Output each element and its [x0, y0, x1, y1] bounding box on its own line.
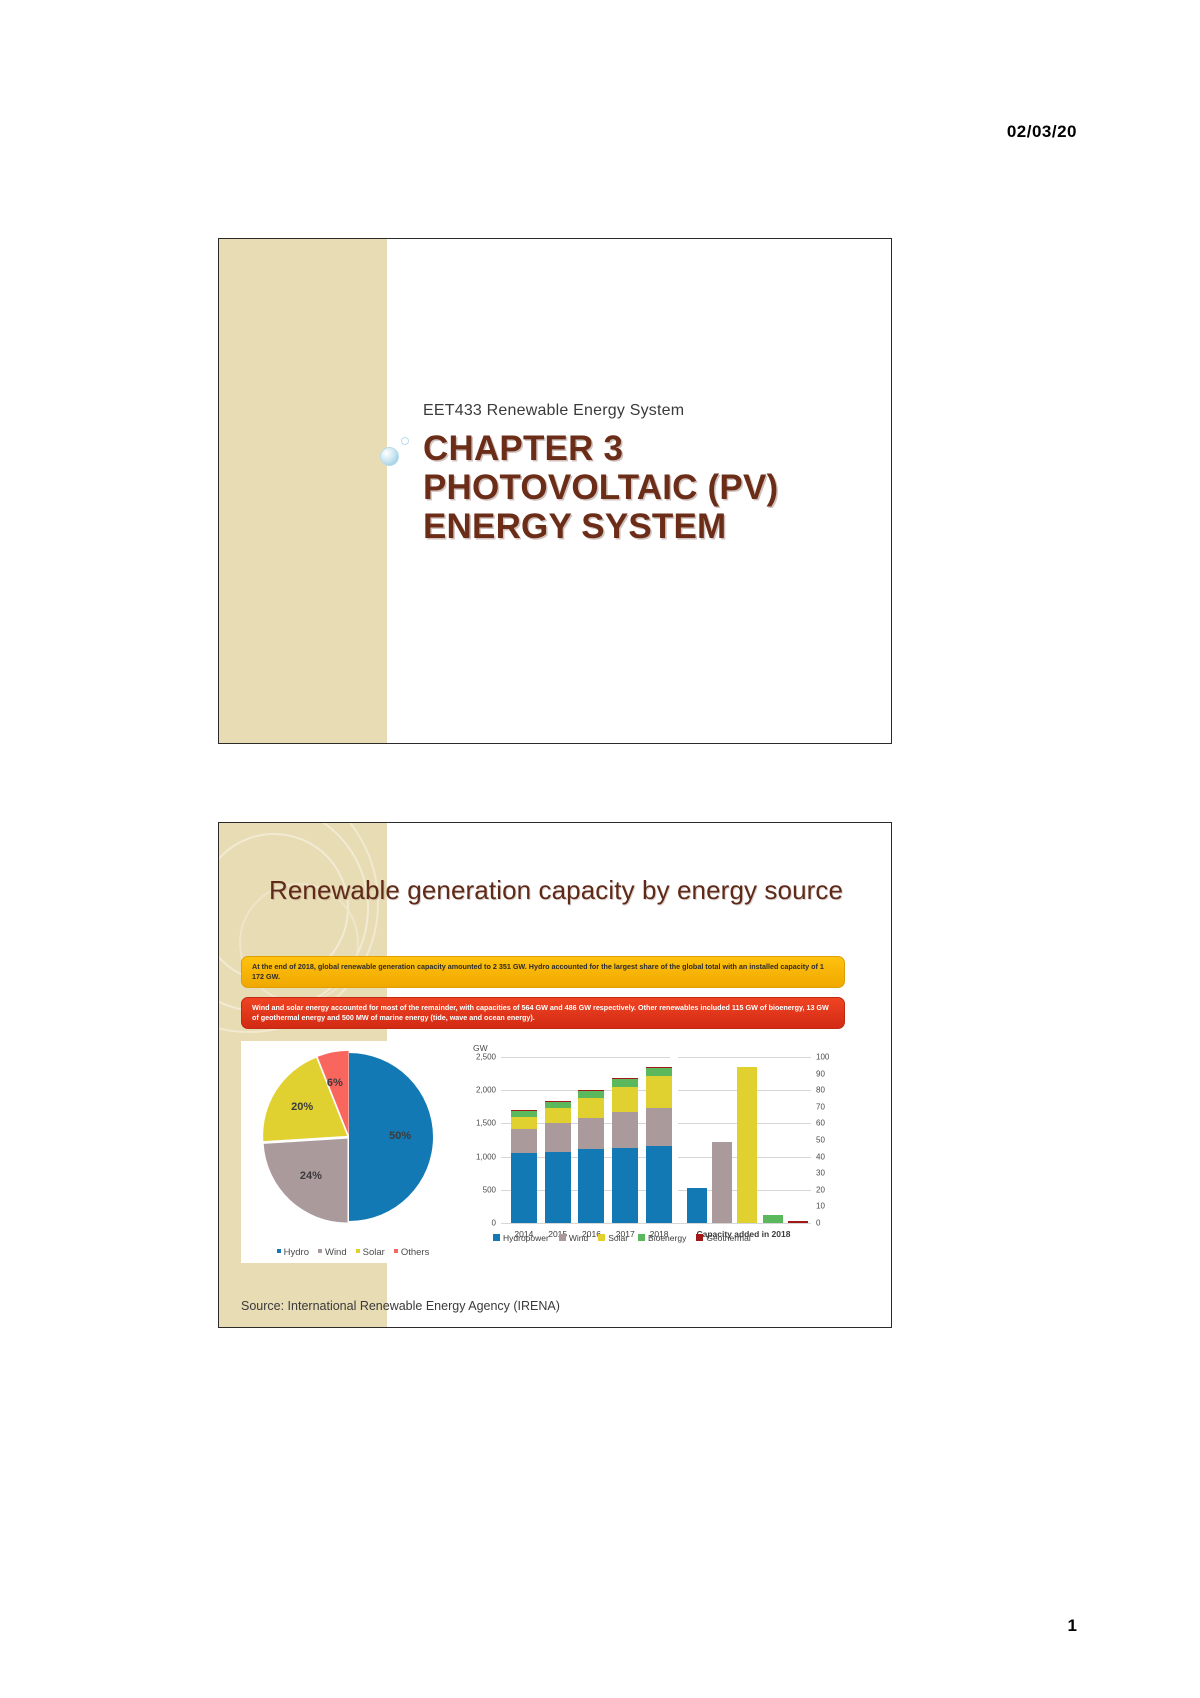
right-axis-tick-label: 60	[816, 1119, 825, 1128]
bar-segment	[511, 1117, 537, 1129]
bar-chart-y-axis-title: GW	[473, 1043, 488, 1053]
bar-segment	[646, 1076, 672, 1109]
bar-segment	[612, 1148, 638, 1223]
course-subtitle: EET433 Renewable Energy System	[423, 402, 684, 420]
bar-segment	[712, 1142, 732, 1223]
pie-chart-svg	[259, 1047, 439, 1227]
legend-swatch-icon	[277, 1249, 281, 1253]
title-line-1: CHAPTER 3	[423, 429, 873, 468]
bar-segment	[511, 1153, 537, 1223]
pie-legend-label: Hydro	[284, 1247, 309, 1258]
bar-chart: GW 05001,0001,5002,0002,5000102030405060…	[453, 1041, 845, 1263]
bar-segment	[763, 1215, 783, 1223]
bar-column-added	[737, 1067, 757, 1223]
bar-chart-legend: HydropowerWindSolarBioenergyGeothermal	[493, 1233, 845, 1243]
bar-chart-plot-area: 05001,0001,5002,0002,5000102030405060708…	[501, 1057, 811, 1223]
right-axis-tick-label: 10	[816, 1202, 825, 1211]
right-axis-tick-label: 90	[816, 1069, 825, 1078]
pie-legend-label: Wind	[325, 1247, 347, 1258]
charts-container: 50%24%20%6% HydroWindSolarOthers GW 0500…	[241, 1041, 845, 1263]
bar-legend-item: Geothermal	[696, 1233, 750, 1243]
bar-segment	[687, 1188, 707, 1223]
right-axis-tick-label: 0	[816, 1219, 820, 1228]
pie-legend-item: Others	[394, 1247, 430, 1258]
right-axis-tick-label: 40	[816, 1152, 825, 1161]
slide-heading: Renewable generation capacity by energy …	[269, 875, 843, 906]
bar-column-added	[687, 1188, 707, 1223]
legend-swatch-icon	[559, 1234, 566, 1241]
gridline	[501, 1057, 811, 1058]
y-axis-tick-label: 2,000	[476, 1086, 496, 1095]
bar-legend-item: Wind	[559, 1233, 588, 1243]
bar-stack-column	[511, 1110, 537, 1223]
legend-swatch-icon	[356, 1249, 360, 1253]
legend-swatch-icon	[598, 1234, 605, 1241]
bar-segment	[646, 1068, 672, 1076]
bar-segment	[578, 1098, 604, 1118]
bubble-small-icon	[401, 437, 409, 445]
bar-legend-label: Hydropower	[503, 1233, 549, 1243]
pie-slice-label: 20%	[291, 1101, 313, 1113]
bar-segment	[612, 1079, 638, 1086]
bar-segment	[578, 1149, 604, 1223]
legend-swatch-icon	[318, 1249, 322, 1253]
pie-legend-label: Others	[401, 1247, 430, 1258]
bar-legend-item: Solar	[598, 1233, 628, 1243]
page-number: 1	[1068, 1616, 1077, 1636]
bar-segment	[612, 1112, 638, 1147]
bar-legend-label: Geothermal	[706, 1233, 750, 1243]
source-attribution: Source: International Renewable Energy A…	[241, 1299, 560, 1313]
y-axis-tick-label: 2,500	[476, 1053, 496, 1062]
bar-legend-label: Solar	[608, 1233, 628, 1243]
bar-column-added	[763, 1215, 783, 1223]
right-axis-tick-label: 100	[816, 1053, 829, 1062]
pie-legend-item: Hydro	[277, 1247, 309, 1258]
bar-stack-column	[578, 1090, 604, 1223]
pie-chart: 50%24%20%6% HydroWindSolarOthers	[245, 1045, 455, 1260]
bar-segment	[612, 1087, 638, 1113]
y-axis-tick-label: 1,000	[476, 1152, 496, 1161]
title-line-2: PHOTOVOLTAIC (PV)	[423, 468, 873, 507]
bar-segment	[578, 1118, 604, 1149]
right-axis-tick-label: 80	[816, 1086, 825, 1095]
pie-slice-label: 50%	[389, 1130, 411, 1142]
bar-segment	[545, 1102, 571, 1109]
bar-stack-column	[545, 1101, 571, 1223]
bubble-icon	[380, 447, 399, 466]
y-axis-tick-label: 500	[483, 1185, 496, 1194]
pie-legend-item: Wind	[318, 1247, 347, 1258]
title-line-3: ENERGY SYSTEM	[423, 507, 873, 546]
bar-legend-item: Hydropower	[493, 1233, 549, 1243]
bar-segment	[788, 1221, 808, 1223]
slide-accent-band	[219, 239, 387, 743]
pie-legend-item: Solar	[356, 1247, 385, 1258]
bar-legend-item: Bioenergy	[638, 1233, 686, 1243]
page-date: 02/03/20	[1007, 122, 1077, 142]
legend-swatch-icon	[696, 1234, 703, 1241]
right-axis-tick-label: 70	[816, 1102, 825, 1111]
legend-swatch-icon	[493, 1234, 500, 1241]
slide-title: EET433 Renewable Energy System CHAPTER 3…	[218, 238, 892, 744]
y-axis-tick-label: 1,500	[476, 1119, 496, 1128]
bar-column-added	[788, 1221, 808, 1223]
bar-stack-column	[612, 1078, 638, 1223]
right-axis-tick-label: 30	[816, 1169, 825, 1178]
y-axis-tick-label: 0	[492, 1219, 496, 1228]
bar-segment	[545, 1123, 571, 1151]
callout-box-secondary: Wind and solar energy accounted for most…	[241, 997, 845, 1029]
bar-segment	[545, 1108, 571, 1123]
callout-box-primary: At the end of 2018, global renewable gen…	[241, 956, 845, 988]
legend-swatch-icon	[394, 1249, 398, 1253]
gridline	[501, 1223, 811, 1224]
slide-title-text: CHAPTER 3 PHOTOVOLTAIC (PV) ENERGY SYSTE…	[423, 429, 873, 547]
slide-chart: Renewable generation capacity by energy …	[218, 822, 892, 1328]
pie-chart-legend: HydroWindSolarOthers	[253, 1247, 453, 1258]
bar-legend-label: Bioenergy	[648, 1233, 686, 1243]
bar-segment	[578, 1091, 604, 1098]
pie-slice-label: 24%	[300, 1170, 322, 1182]
bar-segment	[646, 1108, 672, 1146]
bar-segment	[545, 1152, 571, 1223]
legend-swatch-icon	[638, 1234, 645, 1241]
right-axis-tick-label: 50	[816, 1136, 825, 1145]
pie-slice-label: 6%	[327, 1077, 343, 1089]
pie-legend-label: Solar	[363, 1247, 385, 1258]
bar-segment	[511, 1129, 537, 1153]
bar-legend-label: Wind	[569, 1233, 588, 1243]
bar-stack-column	[646, 1067, 672, 1223]
bar-column-added	[712, 1142, 732, 1223]
bar-segment	[737, 1067, 757, 1223]
bar-segment	[646, 1146, 672, 1223]
right-axis-tick-label: 20	[816, 1185, 825, 1194]
